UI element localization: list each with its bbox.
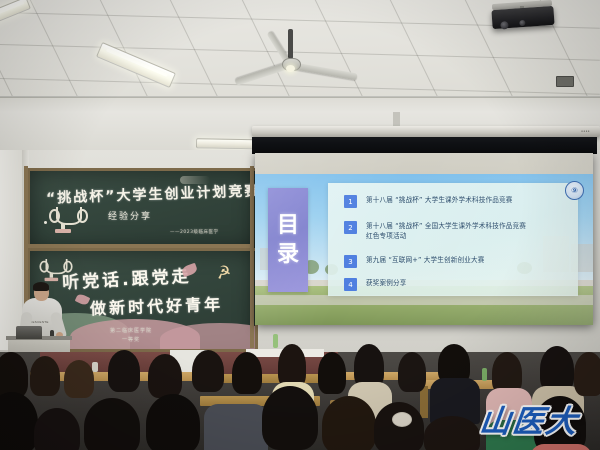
screen-top-band — [252, 137, 597, 154]
hair-scrunchie — [392, 412, 412, 427]
toc-item-1-number: 1 — [344, 195, 357, 208]
blackboard-upper: “挑战杯”大学生创业计划竞赛 经验分享 ——2023级临床医学 — [27, 168, 258, 252]
speaker-hair — [33, 282, 49, 291]
fan-light — [286, 65, 295, 72]
toc-char-2: 录 — [277, 244, 299, 266]
slide-toc-card: 1 第十八届 “挑战杯” 大学生课外学术科技作品竞赛 2 第十八届 “挑战杯” … — [328, 183, 578, 296]
toc-char-1: 目 — [277, 215, 299, 237]
toc-item-4-text: 获奖案例分享 — [366, 278, 406, 288]
projection-screen: 目 录 1 第十八届 “挑战杯” 大学生课外学术科技作品竞赛 2 第十八届 “挑… — [255, 153, 593, 325]
toc-item-3-number: 3 — [344, 255, 357, 268]
university-logo-glyph: ⑨ — [571, 187, 578, 195]
university-logo-icon: ⑨ — [565, 181, 584, 200]
projection-screen-case: ●●●● — [252, 126, 600, 137]
toc-item-4: 4 获奖案例分享 — [344, 278, 566, 291]
toc-item-3: 3 第九届 “互联网+” 大学生创新创业大赛 — [344, 255, 566, 268]
toc-item-3-text: 第九届 “互联网+” 大学生创新创业大赛 — [366, 255, 484, 265]
toc-item-1: 1 第十八届 “挑战杯” 大学生课外学术科技作品竞赛 — [344, 195, 566, 208]
toc-item-4-number: 4 — [344, 278, 357, 291]
hoodie-logo: DESCENTE — [30, 320, 49, 324]
blackboard-title: “挑战杯”大学生创业计划竞赛 — [46, 180, 258, 207]
toc-item-1-text: 第十八届 “挑战杯” 大学生课外学术科技作品竞赛 — [366, 195, 513, 205]
screen-top-margin — [255, 153, 593, 174]
toc-item-2-number: 2 — [344, 221, 357, 234]
slide-toc-panel: 目 录 — [268, 188, 308, 292]
chalk-ribbon-2 — [75, 293, 91, 307]
slide-path — [255, 295, 593, 306]
laptop — [16, 326, 42, 339]
ceiling-fan-rod — [288, 29, 293, 59]
toc-item-2-text: 第十八届 “挑战杯” 全国大学生课外学术科技作品竞赛 红色专项活动 — [366, 221, 526, 241]
blackboard-credit: ——2023级临床医学 — [170, 229, 218, 235]
screen-case-tag: ●●●● — [581, 129, 590, 133]
blackboard-signature-2: 一等奖 — [122, 336, 140, 343]
blackboard-slogan-line2: 做新时代好青年 — [90, 291, 224, 320]
chalk-hammer-sickle-icon: ☭ — [214, 262, 233, 285]
toc-item-2: 2 第十八届 “挑战杯” 全国大学生课外学术科技作品竞赛 红色专项活动 — [344, 221, 570, 241]
presentation-slide: 目 录 1 第十八届 “挑战杯” 大学生课外学术科技作品竞赛 2 第十八届 “挑… — [255, 174, 593, 325]
photo-watermark: 山医大 — [477, 396, 582, 441]
blackboard-signature: 第二临床医学院 — [110, 327, 152, 334]
blackboard-slogan-line1: 听党话.跟党走 — [61, 262, 192, 294]
classroom-photo: “挑战杯”大学生创业计划竞赛 经验分享 ——2023级临床医学 听党话.跟党走 … — [0, 0, 600, 450]
blackboard-subtitle: 经验分享 — [108, 209, 152, 222]
